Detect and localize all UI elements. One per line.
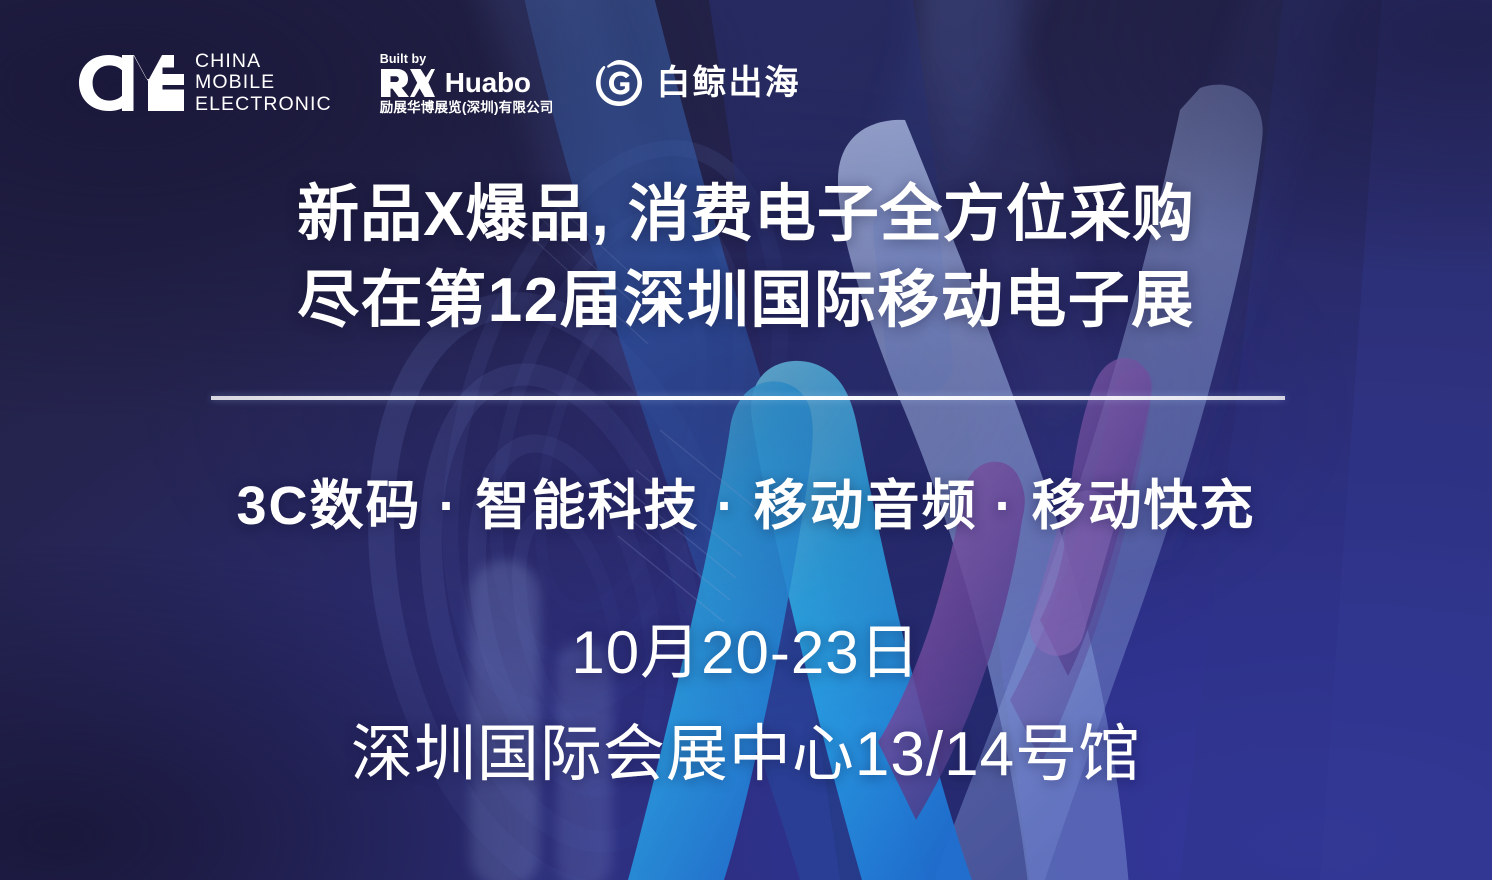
event-venue: 深圳国际会展中心13/14号馆 xyxy=(0,712,1492,798)
logo-bar: CHINA MOBILE ELECTRONIC Built by Huabo 励… xyxy=(78,49,800,117)
category-list: 3C数码 · 智能科技 · 移动音频 · 移动快充 xyxy=(0,468,1492,544)
cme-word-electronic: ELECTRONIC xyxy=(195,95,332,115)
logo-baijing-chuhai[interactable]: 白鲸出海 xyxy=(593,57,800,109)
baijing-wordmark: 白鲸出海 xyxy=(656,66,800,100)
cme-monogram-icon xyxy=(78,53,186,113)
cme-wordmark: CHINA MOBILE ELECTRONIC xyxy=(195,52,332,115)
event-date: 10月20-23日 xyxy=(0,614,1492,692)
headline: 新品X爆品, 消费电子全方位采购 尽在第12届深圳国际移动电子展 xyxy=(0,172,1492,344)
logo-rx-huabo[interactable]: Built by Huabo 励展华博展览(深圳)有限公司 xyxy=(380,52,554,115)
rx-logo-icon xyxy=(380,68,436,98)
huabo-wordmark: Huabo xyxy=(445,69,531,97)
headline-line-1: 新品X爆品, 消费电子全方位采购 xyxy=(0,172,1492,258)
logo-cme[interactable]: CHINA MOBILE ELECTRONIC xyxy=(78,52,332,115)
expo-promo-poster: CHINA MOBILE ELECTRONIC Built by Huabo 励… xyxy=(0,0,1492,880)
organizer-company-cn: 励展华博展览(深圳)有限公司 xyxy=(380,101,554,115)
cme-word-mobile: MOBILE xyxy=(195,73,332,93)
built-by-label: Built by xyxy=(380,52,554,66)
cme-word-china: CHINA xyxy=(195,52,332,72)
headline-line-2: 尽在第12届深圳国际移动电子展 xyxy=(0,258,1492,344)
headline-divider xyxy=(211,396,1285,400)
whale-g-circle-icon xyxy=(593,57,645,109)
